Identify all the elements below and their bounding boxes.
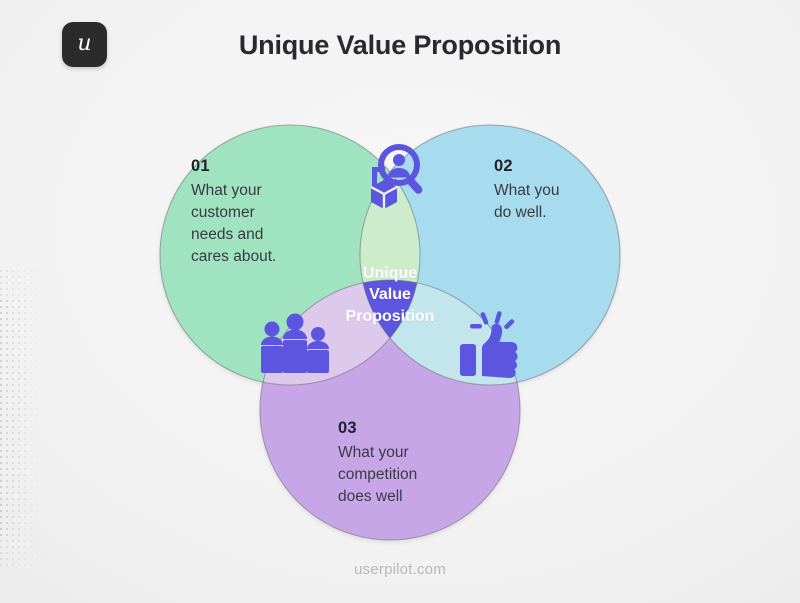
venn-label-02-number: 02 [494,155,604,178]
venn-label-03-number: 03 [338,417,468,440]
slide-canvas: u Unique Value Proposition [0,0,800,603]
footer-attribution: userpilot.com [0,561,800,578]
venn-label-02: 02 What you do well. [494,155,604,224]
venn-label-02-text: What you do well. [494,180,604,224]
venn-label-03: 03 What your competition does well [338,417,468,508]
venn-label-01: 01 What your customer needs and cares ab… [191,155,301,268]
venn-label-03-text: What your competition does well [338,442,468,508]
customer-research-icon [355,142,431,216]
venn-center-label: Unique Value Proposition [315,263,465,327]
venn-label-01-number: 01 [191,155,301,178]
venn-label-01-text: What your customer needs and cares about… [191,180,301,268]
